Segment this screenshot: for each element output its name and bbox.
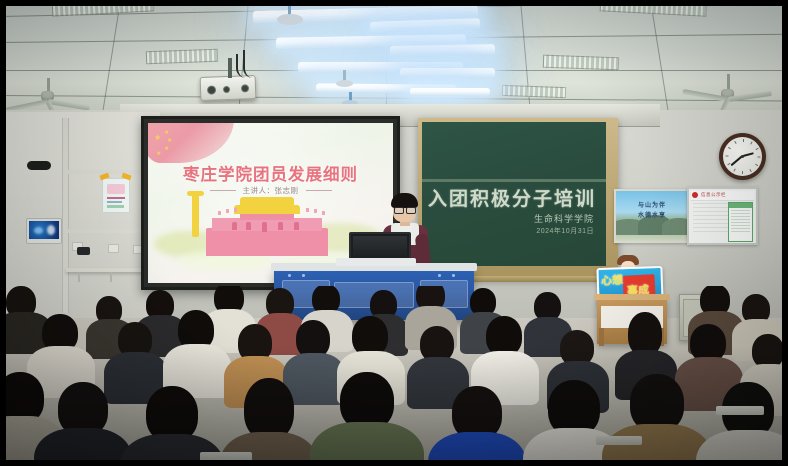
tiananmen-gate	[262, 222, 267, 232]
fluorescent-light-strip	[410, 88, 490, 96]
lectern-knob[interactable]	[438, 274, 441, 277]
fluorescent-light-strip	[390, 44, 495, 57]
projector-mount	[228, 58, 232, 78]
ceiling-grille-panel	[600, 0, 708, 17]
tiananmen-gate	[232, 222, 237, 230]
lamp-hanger-cap	[277, 14, 303, 25]
student-desk	[716, 406, 764, 415]
lectern-riser	[336, 258, 416, 266]
blackboard-panel-seam	[422, 179, 606, 182]
shelf-bracket	[78, 272, 80, 282]
safety-notice-poster	[102, 178, 130, 213]
banner-flaglet	[322, 211, 325, 215]
flag-star-icon: ★	[156, 151, 161, 157]
banner-flaglet	[218, 211, 221, 215]
blackboard-signature: 生命科学学院	[534, 212, 594, 225]
tiananmen-gate	[278, 222, 283, 230]
notice-board-lines	[693, 203, 729, 235]
tiananmen-roof-lower	[234, 205, 300, 214]
banner-flaglet	[306, 208, 309, 212]
tiananmen-gate	[294, 222, 299, 230]
banner-flaglet	[234, 208, 237, 212]
glasses-icon	[394, 207, 415, 212]
poster-line-2: 水德水享	[616, 210, 688, 219]
subtitle-rule	[210, 190, 236, 191]
org-logo-icon	[692, 192, 698, 198]
slide-title: 枣庄学院团员发展细则	[148, 161, 393, 185]
subtitle-rule	[306, 190, 332, 191]
display-screen	[29, 221, 59, 239]
tiananmen-gate	[246, 222, 251, 230]
tiananmen-base	[206, 228, 328, 256]
schedule-chart-header	[729, 203, 752, 208]
notice-board-title: 信息公示栏	[701, 192, 726, 198]
projector-cable	[243, 50, 254, 78]
wall-outlet[interactable]	[108, 244, 119, 253]
audience-area	[0, 286, 788, 466]
blackboard-frame: 入团积极分子培训 生命科学学院 2024年10月31日	[418, 118, 618, 278]
ceiling-grille-panel	[146, 49, 218, 65]
fluorescent-light-strip	[400, 68, 495, 78]
clock-center-pin	[741, 155, 744, 158]
flag-star-icon: ★	[164, 146, 169, 152]
shelf-bracket	[110, 272, 112, 282]
ceiling	[0, 0, 788, 118]
clock-hour-hand	[743, 152, 754, 157]
ceiling-projector	[200, 75, 257, 101]
flag-star-icon: ★	[154, 135, 161, 141]
classroom-room: ★ ★ ★ ★ ★ 枣庄学院团员发展细则 主讲人：张志刚	[0, 0, 788, 466]
banner-flaglet	[314, 209, 317, 213]
slide-subtitle-row: 主讲人：张志刚	[148, 185, 393, 196]
huabiao-cap	[187, 191, 204, 196]
wall-conduit	[62, 118, 69, 313]
flag-star-icon: ★	[167, 138, 172, 144]
blackboard: 入团积极分子培训 生命科学学院 2024年10月31日	[422, 122, 606, 266]
student-desk	[200, 452, 252, 462]
flag-star-icon: ★	[164, 130, 169, 136]
student-desk	[596, 436, 642, 445]
huabiao-column	[192, 195, 199, 237]
classroom-photo-scene: ★ ★ ★ ★ ★ 枣庄学院团员发展细则 主讲人：张志刚	[0, 0, 788, 466]
lectern-knob[interactable]	[288, 274, 291, 277]
poster-line-1: 与山为伴	[616, 200, 688, 209]
blackboard-headline: 入团积极分子培训	[428, 184, 600, 211]
ceiling-grille-panel	[543, 55, 619, 71]
wall-phone[interactable]	[77, 247, 90, 255]
tiananmen-roof-upper	[240, 197, 294, 205]
ceiling-grille-panel	[502, 85, 566, 98]
schedule-chart	[728, 202, 753, 242]
lectern-knob[interactable]	[302, 274, 305, 277]
landscape-poster: 与山为伴 水德水享	[614, 189, 690, 243]
lectern-knob[interactable]	[452, 274, 455, 277]
presenter-hair	[391, 193, 418, 208]
wall-display-panel[interactable]	[26, 218, 62, 244]
lamp-hanger-cap	[336, 80, 353, 87]
clock-face	[723, 137, 762, 176]
notice-board: 信息公示栏	[687, 187, 758, 245]
mountain-shape	[662, 218, 690, 235]
wall-clock	[719, 133, 766, 180]
slide-subtitle: 主讲人：张志刚	[243, 185, 299, 196]
wall-speaker	[27, 161, 51, 170]
banner-flaglet	[226, 209, 229, 213]
blackboard-date: 2024年10月31日	[536, 226, 594, 236]
